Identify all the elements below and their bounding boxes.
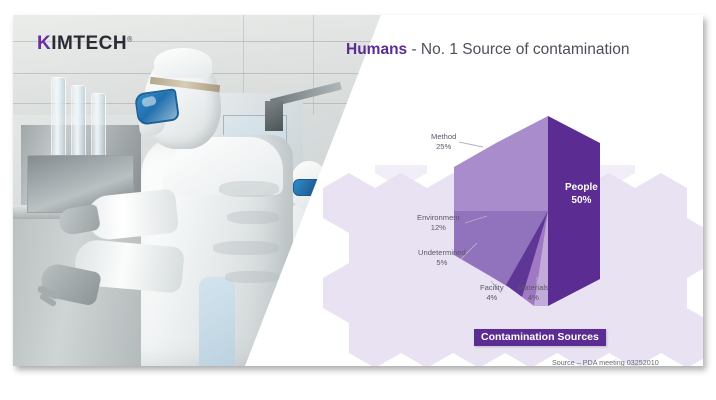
- callout-undetermined-pct: 5%: [418, 258, 466, 268]
- callout-materials-pct: 4%: [518, 293, 549, 303]
- photo-suit-fold: [227, 211, 279, 224]
- page-title: Humans - No. 1 Source of contamination: [346, 41, 629, 59]
- leader-method: [459, 142, 483, 147]
- callout-undetermined-name: Undetermined: [418, 248, 466, 257]
- callout-materials-name: Materials: [518, 283, 549, 292]
- callout-environment-name: Environment: [417, 213, 460, 222]
- callout-environment: Environment 12%: [417, 213, 460, 232]
- callout-environment-pct: 12%: [417, 223, 460, 233]
- screenshot-root: KIMTECH® Humans - No. 1 Source of contam…: [0, 0, 716, 400]
- photo-glass-column: [71, 85, 86, 163]
- page-title-emphasis: Humans: [346, 41, 407, 58]
- callout-undetermined: Undetermined 5%: [418, 248, 466, 267]
- callout-facility-pct: 4%: [480, 293, 504, 303]
- kimtech-logo: KIMTECH®: [37, 33, 133, 55]
- callout-method-pct: 25%: [431, 142, 456, 152]
- photo-worker-inner-garment: [199, 277, 235, 366]
- photo-worker-hood-crown: [154, 48, 212, 78]
- logo-initial: K: [37, 33, 51, 54]
- chart-title-banner: Contamination Sources: [474, 329, 606, 346]
- source-note: Source – PDA meeting 03252010: [552, 358, 659, 366]
- logo-wordmark: IMTECH: [51, 33, 127, 54]
- photo-worker-upper-arm: [85, 188, 179, 241]
- page-title-rest: - No. 1 Source of contamination: [407, 41, 629, 58]
- registered-mark-icon: ®: [127, 37, 133, 44]
- ceiling-seam: [313, 15, 314, 127]
- callout-facility: Facility 4%: [480, 283, 504, 302]
- photo-suit-fold: [225, 271, 279, 283]
- callout-facility-name: Facility: [480, 283, 504, 292]
- callout-materials: Materials 4%: [518, 283, 549, 302]
- callout-method: Method 25%: [431, 132, 456, 151]
- photo-worker-goggles: [134, 88, 180, 126]
- photo-ceiling-arm-head: [265, 101, 283, 131]
- presentation-slide: KIMTECH® Humans - No. 1 Source of contam…: [13, 15, 703, 366]
- leader-environment: [465, 216, 487, 223]
- photo-suit-fold: [213, 241, 279, 255]
- photo-suit-fold: [219, 181, 279, 197]
- photo-glass-column: [51, 77, 66, 161]
- callout-method-name: Method: [431, 132, 456, 141]
